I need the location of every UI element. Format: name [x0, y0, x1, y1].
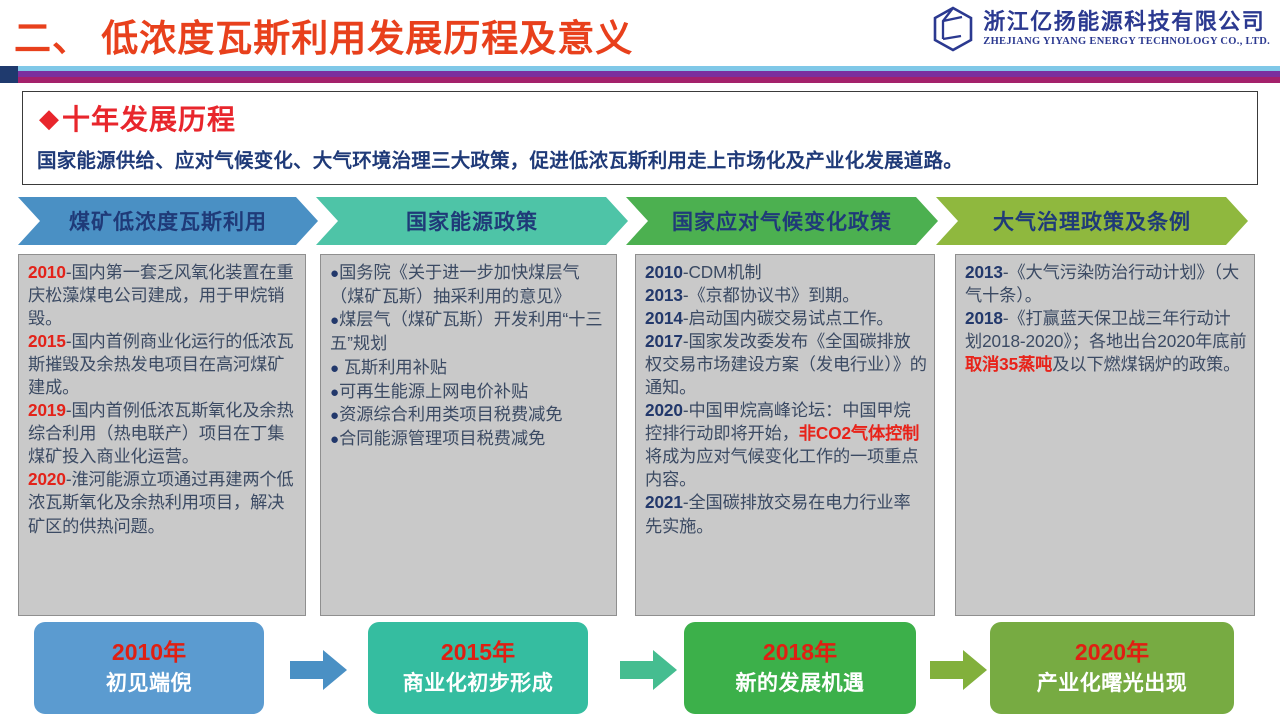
chevron-header-2[interactable]: 国家能源政策 [316, 197, 628, 245]
bullet-dot-icon: ● [330, 312, 339, 329]
bullet-list-item: ●可再生能源上网电价补贴 [330, 380, 609, 404]
intro-card-subtitle: 国家能源供给、应对气候变化、大气环境治理三大政策，促进低浓瓦斯利用走上市场化及产… [23, 138, 1257, 173]
entry-text: -启动国内碳交易试点工作。 [683, 308, 894, 328]
pill-year-2: 2015年 [441, 639, 515, 665]
bullet-dot-icon: ● [330, 384, 339, 401]
chevron-label-1: 煤矿低浓度瓦斯利用 [69, 206, 267, 236]
entry-text: -国内第一套乏风氧化装置在重庆松藻煤电公司建成，用于甲烷销毁。 [28, 262, 294, 328]
chevron-header-1[interactable]: 煤矿低浓度瓦斯利用 [18, 197, 318, 245]
chevron-label-4: 大气治理政策及条例 [993, 206, 1191, 236]
bullet-dot-icon: ● [330, 431, 339, 448]
timeline-pill-3[interactable]: 2018年 新的发展机遇 [684, 622, 916, 714]
chevron-label-2: 国家能源政策 [406, 206, 538, 236]
bullet-item-text: 可再生能源上网电价补贴 [339, 381, 528, 401]
bullet-item-text: 国务院《关于进一步加快煤层气（煤矿瓦斯）抽采利用的意见》 [330, 262, 580, 306]
year-label: 2021 [645, 492, 683, 512]
company-logo: 浙江亿扬能源科技有限公司 ZHEJIANG YIYANG ENERGY TECH… [931, 6, 1270, 52]
diamond-bullet-icon: ◆ [39, 105, 60, 131]
entry-text: -《打赢蓝天保卫战三年行动计划2018-2020》；各地出台2020年底前 [965, 308, 1246, 351]
column-text-block: 2010-国内第一套乏风氧化装置在重庆松藻煤电公司建成，用于甲烷销毁。2015-… [28, 261, 298, 538]
bullet-item-text: 煤层气（煤矿瓦斯）开发利用“十三五”规划 [330, 309, 603, 353]
bullet-dot-icon: ● [330, 265, 339, 282]
content-column-2: ●国务院《关于进一步加快煤层气（煤矿瓦斯）抽采利用的意见》●煤层气（煤矿瓦斯）开… [320, 254, 617, 616]
slide-root: 二、 低浓度瓦斯利用发展历程及意义 浙江亿扬能源科技有限公司 ZHEJIANG … [0, 0, 1280, 720]
intro-card: ◆ 十年发展历程 国家能源供给、应对气候变化、大气环境治理三大政策，促进低浓瓦斯… [22, 91, 1258, 185]
arrow-right-icon-3 [930, 648, 988, 692]
column-text-block: 2013-《大气污染防治行动计划》（大气十条）。2018-《打赢蓝天保卫战三年行… [965, 261, 1247, 376]
timeline-pill-row: 2010年 初见端倪 2015年 商业化初步形成 2018年 新的发展机遇 20… [0, 622, 1280, 720]
content-column-3: 2010-CDM机制2013-《京都协议书》到期。2014-启动国内碳交易试点工… [635, 254, 935, 616]
bullet-list-item: ●国务院《关于进一步加快煤层气（煤矿瓦斯）抽采利用的意见》 [330, 261, 609, 308]
chevron-header-row: 煤矿低浓度瓦斯利用 国家能源政策 国家应对气候变化政策 大气治理政策及条例 [18, 197, 1262, 245]
entry-text: -淮河能源立项通过再建两个低浓瓦斯氧化及余热利用项目，解决矿区的供热问题。 [28, 469, 294, 535]
entry-text: -国家发改委发布《全国碳排放权交易市场建设方案（发电行业）》的通知。 [645, 331, 927, 397]
year-label: 2010 [645, 262, 683, 282]
pill-label-1: 初见端倪 [106, 670, 192, 697]
year-label: 2020 [645, 400, 683, 420]
year-label: 2010 [28, 262, 66, 282]
intro-card-heading-text: 十年发展历程 [62, 98, 236, 138]
divider-stripe-magenta [0, 77, 1280, 83]
bullet-list-item: ●煤层气（煤矿瓦斯）开发利用“十三五”规划 [330, 308, 609, 355]
timeline-pill-4[interactable]: 2020年 产业化曙光出现 [990, 622, 1234, 714]
entry-text: -CDM机制 [683, 262, 762, 282]
arrow-right-icon-2 [620, 648, 678, 692]
hexagon-cube-logo-icon [931, 6, 975, 52]
bullet-item-text: 合同能源管理项目税费减免 [339, 428, 545, 448]
year-label: 2013 [965, 262, 1003, 282]
year-label: 2020 [28, 469, 66, 489]
bullet-item-text: 资源综合利用类项目税费减免 [339, 404, 562, 424]
pill-year-1: 2010年 [112, 639, 186, 665]
slide-header: 二、 低浓度瓦斯利用发展历程及意义 浙江亿扬能源科技有限公司 ZHEJIANG … [0, 0, 1280, 68]
pill-year-4: 2020年 [1075, 639, 1149, 665]
bullet-dot-icon: ● [330, 407, 339, 424]
intro-card-heading: ◆ 十年发展历程 [23, 92, 1257, 138]
entry-text: -《京都协议书》到期。 [683, 285, 860, 305]
chevron-header-4[interactable]: 大气治理政策及条例 [936, 197, 1248, 245]
logo-company-name-cn: 浙江亿扬能源科技有限公司 [983, 11, 1270, 33]
page-title: 二、 低浓度瓦斯利用发展历程及意义 [14, 8, 633, 62]
content-columns: 2010-国内第一套乏风氧化装置在重庆松藻煤电公司建成，用于甲烷销毁。2015-… [18, 254, 1262, 616]
header-divider [0, 66, 1280, 84]
timeline-pill-1[interactable]: 2010年 初见端倪 [34, 622, 264, 714]
bullet-dot-icon: ● [330, 360, 339, 377]
year-label: 2015 [28, 331, 66, 351]
entry-text-after: 及以下燃煤锅炉的政策。 [1052, 354, 1240, 374]
entry-text: -国内首例商业化运行的低浓瓦斯摧毁及余热发电项目在高河煤矿建成。 [28, 331, 294, 397]
chevron-header-3[interactable]: 国家应对气候变化政策 [626, 197, 938, 245]
bullet-list-item: ● 瓦斯利用补贴 [330, 356, 609, 380]
pill-label-3: 新的发展机遇 [736, 670, 865, 697]
year-label: 2017 [645, 331, 683, 351]
divider-left-cap [0, 66, 18, 83]
bullet-item-text: 瓦斯利用补贴 [339, 357, 447, 377]
logo-company-name-en: ZHEJIANG YIYANG ENERGY TECHNOLOGY CO., L… [983, 37, 1270, 48]
highlighted-phrase: 取消35蒸吨 [965, 354, 1052, 374]
chevron-label-3: 国家应对气候变化政策 [672, 206, 892, 236]
year-label: 2014 [645, 308, 683, 328]
arrow-right-icon-1 [290, 648, 348, 692]
column-text-block: 2010-CDM机制2013-《京都协议书》到期。2014-启动国内碳交易试点工… [645, 261, 927, 538]
entry-text: -全国碳排放交易在电力行业率先实施。 [645, 492, 911, 535]
bullet-list-item: ●合同能源管理项目税费减免 [330, 427, 609, 451]
timeline-pill-2[interactable]: 2015年 商业化初步形成 [368, 622, 588, 714]
entry-text-after: 将成为应对气候变化工作的一项重点内容。 [645, 446, 918, 489]
content-column-4: 2013-《大气污染防治行动计划》（大气十条）。2018-《打赢蓝天保卫战三年行… [955, 254, 1255, 616]
year-label: 2018 [965, 308, 1003, 328]
pill-year-3: 2018年 [763, 639, 837, 665]
highlighted-phrase: 非CO2气体控制 [799, 423, 919, 443]
content-column-1: 2010-国内第一套乏风氧化装置在重庆松藻煤电公司建成，用于甲烷销毁。2015-… [18, 254, 306, 616]
entry-text: -《大气污染防治行动计划》（大气十条）。 [965, 262, 1239, 305]
bullet-list-item: ●资源综合利用类项目税费减免 [330, 403, 609, 427]
entry-text: -国内首例低浓瓦斯氧化及余热综合利用（热电联产）项目在丁集煤矿投入商业化运营。 [28, 400, 294, 466]
pill-label-2: 商业化初步形成 [403, 670, 554, 697]
year-label: 2013 [645, 285, 683, 305]
pill-label-4: 产业化曙光出现 [1037, 670, 1188, 697]
year-label: 2019 [28, 400, 66, 420]
